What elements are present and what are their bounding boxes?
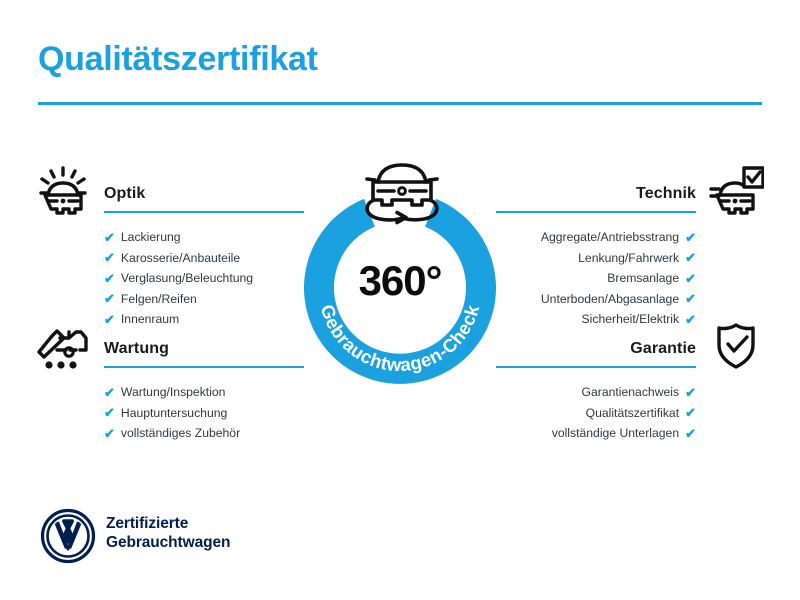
check-icon: ✔ — [685, 272, 696, 285]
section-title-optik: Optik — [104, 185, 145, 203]
check-icon: ✔ — [685, 292, 696, 305]
list-item-label: Unterboden/Abgasanlage — [541, 289, 679, 310]
check-icon: ✔ — [104, 292, 115, 305]
list-item-label: Felgen/Reifen — [121, 289, 197, 310]
checklist-optik: ✔Lackierung ✔Karosserie/Anbauteile ✔Verg… — [36, 227, 304, 330]
car-checkbox-icon — [708, 165, 764, 217]
list-item: Bremsanlage✔ — [496, 268, 696, 289]
list-item: Aggregate/Antriebsstrang✔ — [496, 227, 696, 248]
vw-logo-icon — [40, 508, 96, 564]
list-item-label: Lenkung/Fahrwerk — [578, 248, 679, 269]
section-header: Wartung — [36, 320, 304, 372]
checklist-garantie: Garantienachweis✔ Qualitätszertifikat✔ v… — [496, 382, 764, 444]
section-optik: Optik ✔Lackierung ✔Karosserie/Anbauteile… — [36, 165, 304, 330]
section-underline — [104, 211, 304, 213]
check-icon: ✔ — [104, 272, 115, 285]
list-item: ✔Hauptuntersuchung — [104, 403, 304, 424]
list-item-label: Qualitätszertifikat — [586, 403, 679, 424]
list-item: Unterboden/Abgasanlage✔ — [496, 289, 696, 310]
check-icon: ✔ — [685, 386, 696, 399]
section-title-wartung: Wartung — [104, 340, 169, 358]
check-icon: ✔ — [104, 386, 115, 399]
car-service-pen-icon — [36, 320, 92, 372]
checklist-technik: Aggregate/Antriebsstrang✔ Lenkung/Fahrwe… — [496, 227, 764, 330]
list-item-label: Karosserie/Anbauteile — [121, 248, 240, 269]
list-item: ✔Lackierung — [104, 227, 304, 248]
section-underline — [496, 366, 696, 368]
list-item: ✔Felgen/Reifen — [104, 289, 304, 310]
section-garantie: Garantie Garantienachweis✔ Qualitätszert… — [496, 320, 764, 444]
list-item: ✔vollständiges Zubehör — [104, 423, 304, 444]
check-icon: ✔ — [104, 427, 115, 440]
section-header: Garantie — [496, 320, 764, 372]
list-item: ✔Verglasung/Beleuchtung — [104, 268, 304, 289]
check-icon: ✔ — [104, 231, 115, 244]
list-item-label: Hauptuntersuchung — [121, 403, 227, 424]
vw-wordmark-line1: Zertifizierte — [106, 514, 230, 533]
section-title-technik: Technik — [636, 185, 696, 203]
section-underline — [496, 211, 696, 213]
badge-value: 360° — [300, 260, 500, 302]
list-item: Garantienachweis✔ — [496, 382, 696, 403]
badge-curved-label: Gebrauchtwagen-Check — [317, 302, 484, 375]
section-header: Technik — [496, 165, 764, 217]
list-item: ✔Wartung/Inspektion — [104, 382, 304, 403]
svg-text:Gebrauchtwagen-Check: Gebrauchtwagen-Check — [317, 302, 484, 375]
list-item-label: Lackierung — [121, 227, 181, 248]
list-item: ✔Karosserie/Anbauteile — [104, 248, 304, 269]
check-icon: ✔ — [685, 251, 696, 264]
list-item: Qualitätszertifikat✔ — [496, 403, 696, 424]
list-item-label: Garantienachweis — [582, 382, 680, 403]
checklist-wartung: ✔Wartung/Inspektion ✔Hauptuntersuchung ✔… — [36, 382, 304, 444]
car-rotate-icon — [356, 156, 448, 226]
check-icon: ✔ — [104, 251, 115, 264]
title-divider — [38, 102, 762, 105]
section-underline — [104, 366, 304, 368]
page-title: Qualitätszertifikat — [38, 42, 318, 76]
list-item-label: vollständiges Zubehör — [121, 423, 240, 444]
list-item-label: Bremsanlage — [607, 268, 679, 289]
shield-check-icon — [708, 320, 764, 372]
car-shine-icon — [36, 165, 92, 217]
check-icon: ✔ — [104, 406, 115, 419]
list-item: Lenkung/Fahrwerk✔ — [496, 248, 696, 269]
list-item-label: Verglasung/Beleuchtung — [121, 268, 253, 289]
list-item: vollständige Unterlagen✔ — [496, 423, 696, 444]
list-item-label: vollständige Unterlagen — [552, 423, 679, 444]
section-header: Optik — [36, 165, 304, 217]
section-title-garantie: Garantie — [630, 340, 696, 358]
section-technik: Technik Aggregate/Antriebsstrang✔ Lenkun… — [496, 165, 764, 330]
vw-wordmark-line2: Gebrauchtwagen — [106, 533, 230, 552]
list-item-label: Aggregate/Antriebsstrang — [541, 227, 679, 248]
check-icon: ✔ — [685, 406, 696, 419]
check-icon: ✔ — [685, 231, 696, 244]
section-wartung: Wartung ✔Wartung/Inspektion ✔Hauptunters… — [36, 320, 304, 444]
check-icon: ✔ — [685, 427, 696, 440]
vw-wordmark: Zertifizierte Gebrauchtwagen — [106, 514, 230, 552]
list-item-label: Wartung/Inspektion — [121, 382, 226, 403]
